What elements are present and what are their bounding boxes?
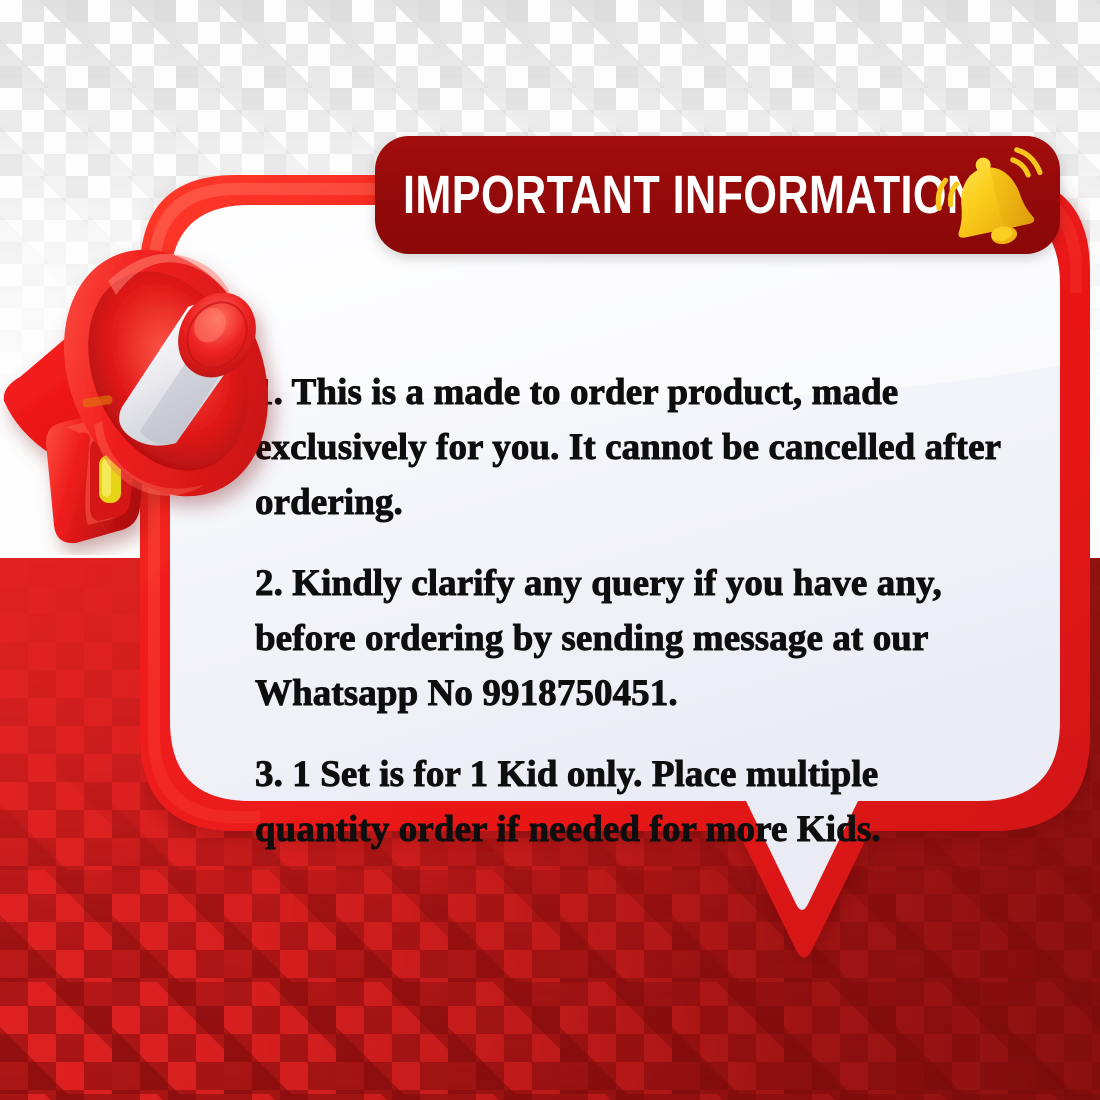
poster-canvas: 1. This is a made to order product, made… [0, 0, 1100, 1100]
megaphone-icon [0, 155, 310, 555]
bubble-text-block: 1. This is a made to order product, made… [255, 365, 1010, 857]
info-point-2: 2. Kindly clarify any query if you have … [255, 556, 1010, 721]
info-point-1: 1. This is a made to order product, made… [255, 365, 1010, 530]
info-point-3: 3. 1 Set is for 1 Kid only. Place multip… [255, 747, 1010, 857]
header-banner: IMPORTANT INFORMATION [375, 136, 1060, 254]
page-title: IMPORTANT INFORMATION [403, 168, 979, 222]
bell-icon [934, 139, 1046, 251]
